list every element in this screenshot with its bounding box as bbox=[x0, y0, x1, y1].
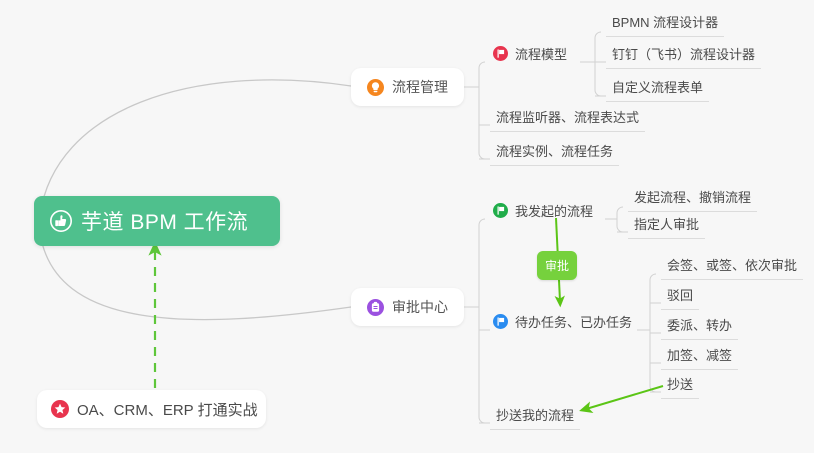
flag-icon bbox=[493, 314, 508, 329]
leaf-bpmn-designer[interactable]: BPMN 流程设计器 bbox=[606, 12, 724, 37]
bracket-approval-center bbox=[479, 219, 485, 423]
leaf-start-cancel-process[interactable]: 发起流程、撤销流程 bbox=[628, 187, 757, 212]
node-process-model[interactable]: 流程模型 bbox=[493, 44, 567, 63]
node-process-model-label: 流程模型 bbox=[515, 44, 567, 63]
leaf-assignee-approval[interactable]: 指定人审批 bbox=[628, 214, 705, 239]
leaf-process-listener-expression[interactable]: 流程监听器、流程表达式 bbox=[490, 107, 645, 132]
wire-root-to-process-mgmt bbox=[40, 80, 351, 215]
node-footer[interactable]: OA、CRM、ERP 打通实战 bbox=[37, 390, 266, 428]
bracket-my-started bbox=[617, 207, 623, 232]
star-icon bbox=[51, 400, 69, 418]
node-approval-center[interactable]: 审批中心 bbox=[351, 288, 464, 326]
flag-icon bbox=[493, 203, 508, 218]
root-label: 芋道 BPM 工作流 bbox=[81, 206, 248, 236]
mindmap-canvas: 芋道 BPM 工作流 流程管理 流程模型 BPMN 流程设计器 钉钉（飞书）流程… bbox=[0, 0, 814, 453]
lightbulb-icon bbox=[367, 79, 384, 96]
leaf-dingtalk-designer[interactable]: 钉钉（飞书）流程设计器 bbox=[606, 44, 761, 69]
clipboard-icon bbox=[367, 299, 384, 316]
node-footer-label: OA、CRM、ERP 打通实战 bbox=[77, 399, 258, 420]
node-todo-done-label: 待办任务、已办任务 bbox=[515, 312, 632, 331]
leaf-cc-my-process[interactable]: 抄送我的流程 bbox=[490, 405, 580, 430]
leaf-add-remove-sign[interactable]: 加签、减签 bbox=[661, 345, 738, 370]
node-process-mgmt-label: 流程管理 bbox=[392, 77, 448, 97]
approve-pill: 审批 bbox=[537, 251, 577, 280]
leaf-delegate-transfer[interactable]: 委派、转办 bbox=[661, 315, 738, 340]
arrow-cc-flow bbox=[586, 386, 663, 409]
bracket-todo-done bbox=[650, 274, 656, 392]
leaf-cc[interactable]: 抄送 bbox=[661, 374, 699, 399]
node-process-mgmt[interactable]: 流程管理 bbox=[351, 68, 464, 106]
node-my-started-label: 我发起的流程 bbox=[515, 201, 593, 220]
leaf-reject[interactable]: 驳回 bbox=[661, 285, 699, 310]
leaf-custom-form[interactable]: 自定义流程表单 bbox=[606, 77, 709, 102]
leaf-countersign[interactable]: 会签、或签、依次审批 bbox=[661, 255, 803, 280]
node-my-started[interactable]: 我发起的流程 bbox=[493, 201, 593, 220]
flag-icon bbox=[493, 46, 508, 61]
thumbs-up-icon bbox=[50, 210, 72, 232]
root-node[interactable]: 芋道 BPM 工作流 bbox=[34, 196, 280, 246]
node-approval-center-label: 审批中心 bbox=[392, 297, 448, 317]
leaf-process-instance-task[interactable]: 流程实例、流程任务 bbox=[490, 141, 619, 166]
bracket-process-mgmt bbox=[479, 62, 485, 159]
bracket-process-model bbox=[595, 32, 601, 96]
node-todo-done[interactable]: 待办任务、已办任务 bbox=[493, 312, 632, 331]
